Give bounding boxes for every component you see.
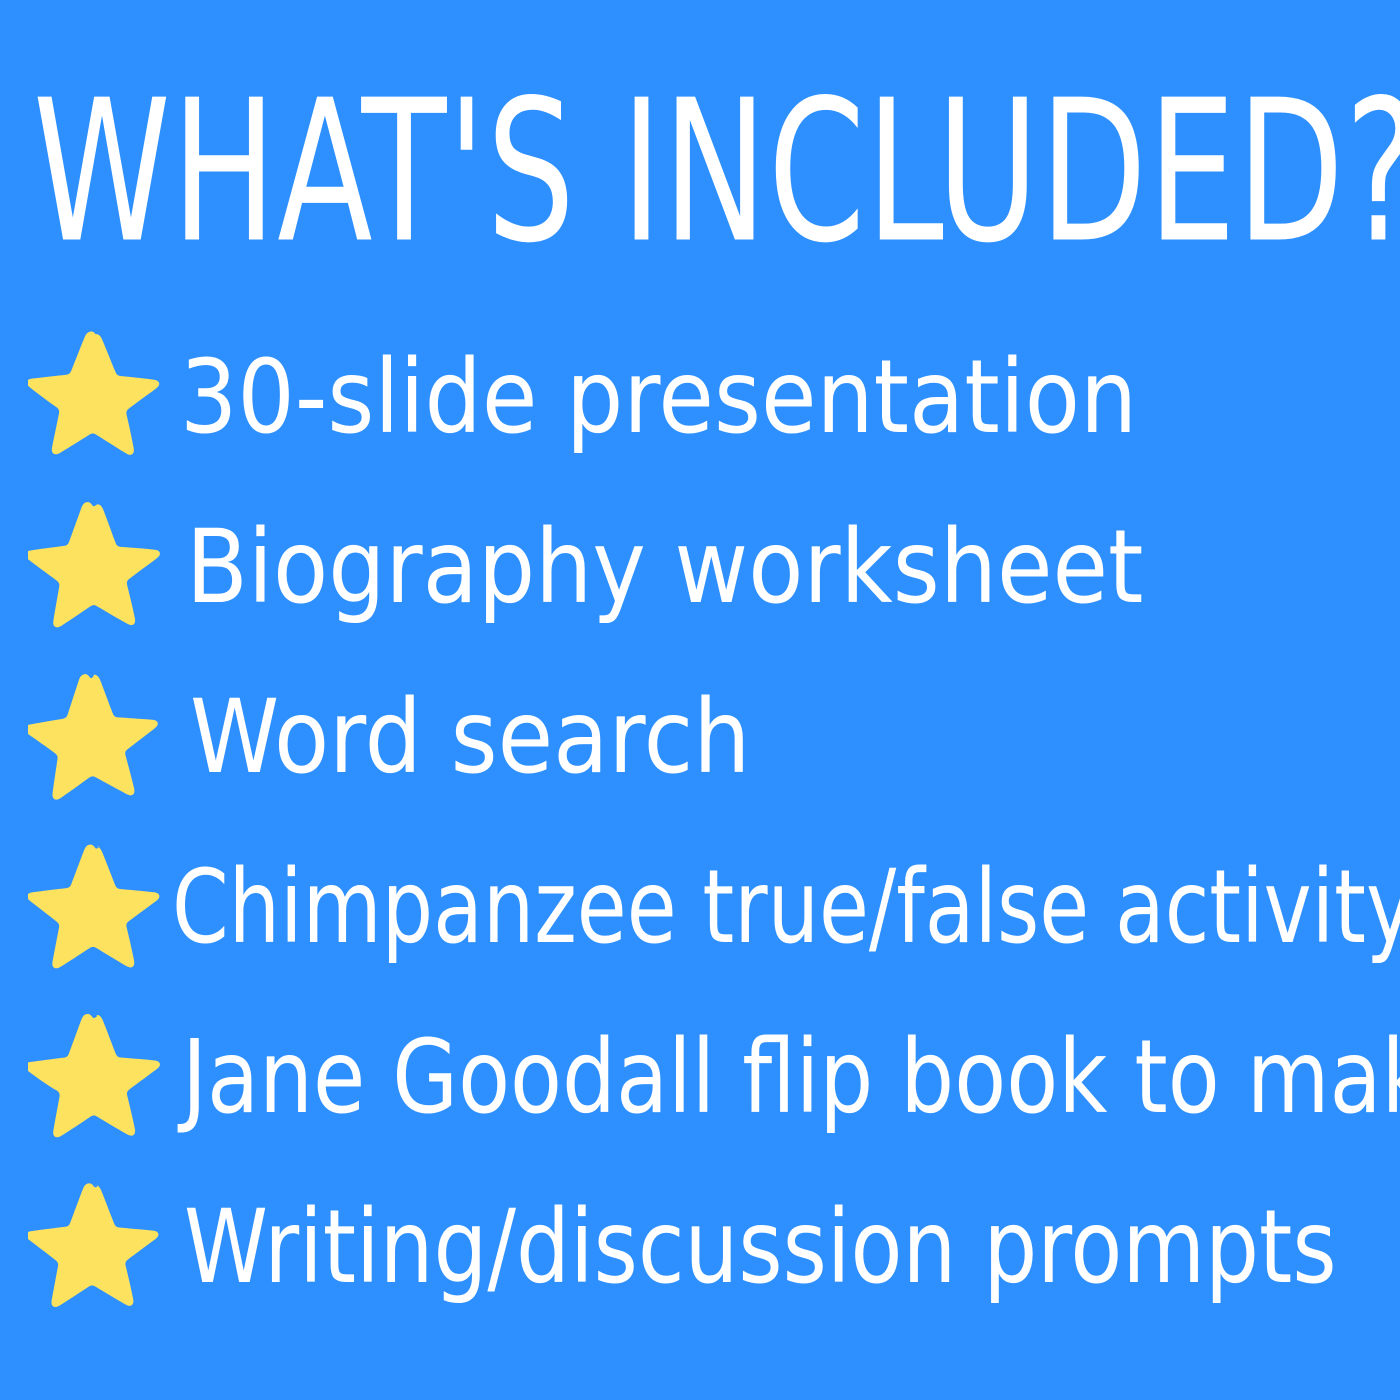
list-item: Writing/discussion prompts	[0, 1162, 1400, 1332]
list-item-label: Word search	[190, 686, 750, 788]
page-title: WHAT'S INCLUDED?	[33, 64, 1113, 281]
list-item: Word search	[0, 652, 1400, 822]
star-icon	[28, 331, 160, 459]
list-item: Biography worksheet	[0, 482, 1400, 652]
list-item-label: Chimpanzee true/false activity	[172, 856, 1400, 958]
list-item-label: 30-slide presentation	[180, 346, 1137, 448]
list-item-label: Jane Goodall flip book to make	[182, 1026, 1400, 1128]
star-icon	[28, 673, 160, 801]
star-icon	[28, 1183, 160, 1311]
list-item-label: Writing/discussion prompts	[184, 1196, 1337, 1298]
star-icon	[28, 1013, 160, 1141]
star-icon	[28, 502, 160, 630]
included-items-list: 30-slide presentation Biography workshee…	[0, 312, 1400, 1332]
list-item: Jane Goodall flip book to make	[0, 992, 1400, 1162]
slide-canvas: WHAT'S INCLUDED? 30-slide presentation B…	[0, 0, 1400, 1400]
list-item-label: Biography worksheet	[186, 516, 1143, 618]
list-item: Chimpanzee true/false activity	[0, 822, 1400, 992]
star-icon	[28, 844, 160, 972]
list-item: 30-slide presentation	[0, 312, 1400, 482]
